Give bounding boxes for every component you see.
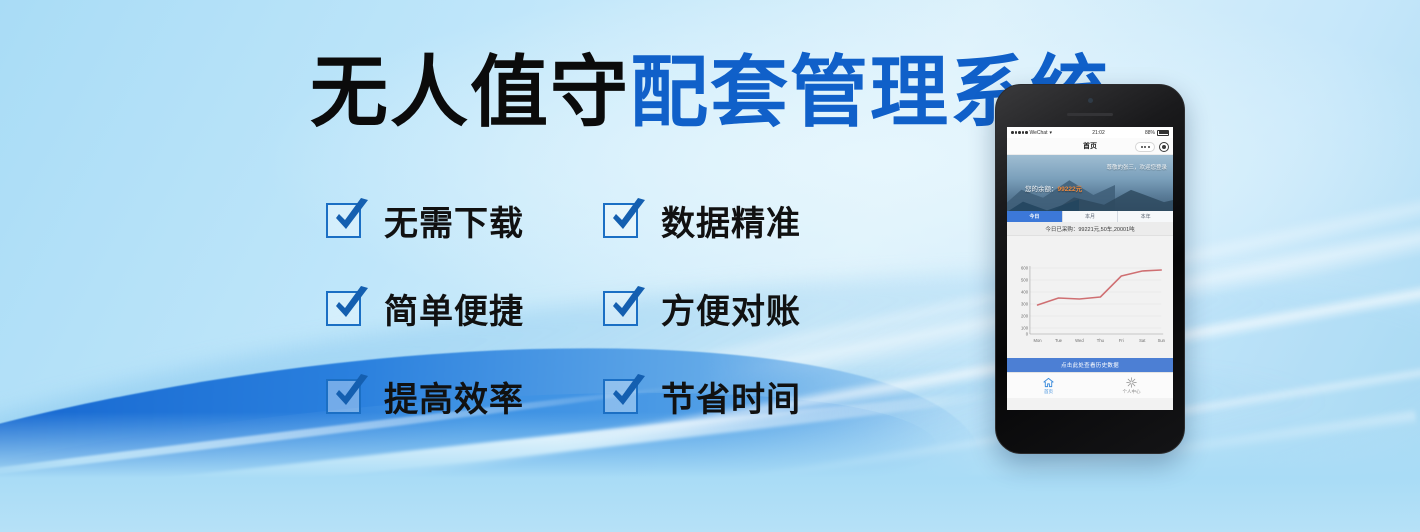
tabbar-item-profile[interactable]: 个人中心 [1090,373,1173,398]
promo-banner: 无人值守配套管理系统 无需下载 数据精准 简单便捷 [0,0,1420,532]
feature-item: 数据精准 [603,176,856,264]
status-bar: WeChat ▾ 21:02 88% [1007,127,1173,138]
checkbox-checked-icon [603,288,645,328]
feature-item: 无需下载 [326,176,579,264]
svg-text:Tue: Tue [1055,338,1063,343]
feature-list: 无需下载 数据精准 简单便捷 方便对账 [326,176,856,440]
target-circle-icon[interactable] [1159,142,1169,152]
history-cta-button[interactable]: 点击此处查看历史数据 [1007,358,1173,372]
svg-text:Wed: Wed [1075,338,1084,343]
feature-item: 简单便捷 [326,264,579,352]
phone-mockup: WeChat ▾ 21:02 88% 首页 [995,84,1185,454]
balance-label: 您的余额： [1025,186,1058,193]
svg-text:Fri: Fri [1119,338,1124,343]
svg-text:Sun: Sun [1158,338,1166,343]
checkbox-checked-icon [603,376,645,416]
home-icon [1043,377,1054,388]
chart-svg: 600 500 400 300 200 100 0 Mon Tue Wed Th… [1009,262,1167,352]
nav-title: 首页 [1083,141,1097,151]
checkbox-checked-icon [326,376,368,416]
svg-text:600: 600 [1021,265,1029,270]
period-tabs: 今日 本月 本年 [1007,211,1173,222]
tabbar-label-profile: 个人中心 [1123,389,1141,395]
feature-label: 无需下载 [384,196,524,245]
tab-year[interactable]: 本年 [1118,211,1173,222]
wechat-capsule[interactable] [1135,142,1169,152]
checkbox-checked-icon [326,200,368,240]
feature-label: 节省时间 [661,372,801,421]
svg-text:0: 0 [1026,331,1029,336]
bottom-tab-bar: 首页 [1007,372,1173,398]
greeting-text: 尊敬的张三，欢迎您登录 [1106,163,1167,171]
checkbox-checked-icon [326,288,368,328]
signal-dots-icon [1011,131,1028,134]
page-title-primary: 无人值守 [310,48,630,138]
feature-item: 提高效率 [326,352,579,440]
svg-text:300: 300 [1021,301,1029,306]
balance-value: 99222元 [1058,186,1083,193]
tab-month[interactable]: 本月 [1063,211,1119,222]
feature-item: 方便对账 [603,264,856,352]
summary-strip: 今日已采购：99221元,50车,20001吨 [1007,222,1173,236]
chart-line-series [1038,270,1162,305]
wifi-icon: ▾ [1049,130,1052,136]
svg-text:500: 500 [1021,277,1029,282]
phone-speaker [1067,113,1113,116]
tabbar-item-home[interactable]: 首页 [1007,373,1090,398]
tabbar-label-home: 首页 [1044,389,1053,395]
checkbox-checked-icon [603,200,645,240]
svg-text:Thu: Thu [1097,338,1105,343]
feature-label: 提高效率 [384,372,524,421]
balance-row: 您的余额：99222元 [1025,183,1082,193]
carrier-label: WeChat [1030,130,1048,136]
chart-ytick-labels: 600 500 400 300 200 100 0 [1021,265,1029,336]
page-title: 无人值守配套管理系统 [0,54,1420,132]
chart-xtick-labels: Mon Tue Wed Thu Fri Sat Sun [1033,338,1165,343]
feature-label: 数据精准 [661,196,801,245]
purchase-line-chart: 600 500 400 300 200 100 0 Mon Tue Wed Th… [1007,236,1173,358]
svg-text:Mon: Mon [1033,338,1042,343]
battery-icon [1157,130,1169,136]
svg-text:Sat: Sat [1139,338,1146,343]
feature-label: 简单便捷 [384,284,524,333]
status-time: 21:02 [1092,130,1105,136]
feature-item: 节省时间 [603,352,856,440]
phone-camera-icon [1088,98,1093,103]
tab-today[interactable]: 今日 [1007,211,1063,222]
more-dots-icon[interactable] [1135,142,1155,152]
chart-axes [1030,266,1163,334]
nav-bar: 首页 [1007,138,1173,155]
phone-screen: WeChat ▾ 21:02 88% 首页 [1007,127,1173,410]
hero-banner: 尊敬的张三，欢迎您登录 您的余额：99222元 [1007,155,1173,211]
feature-label: 方便对账 [661,284,801,333]
svg-text:100: 100 [1021,325,1029,330]
battery-percent: 88% [1145,130,1155,136]
svg-text:400: 400 [1021,289,1029,294]
svg-text:200: 200 [1021,313,1029,318]
gear-icon [1126,377,1137,388]
